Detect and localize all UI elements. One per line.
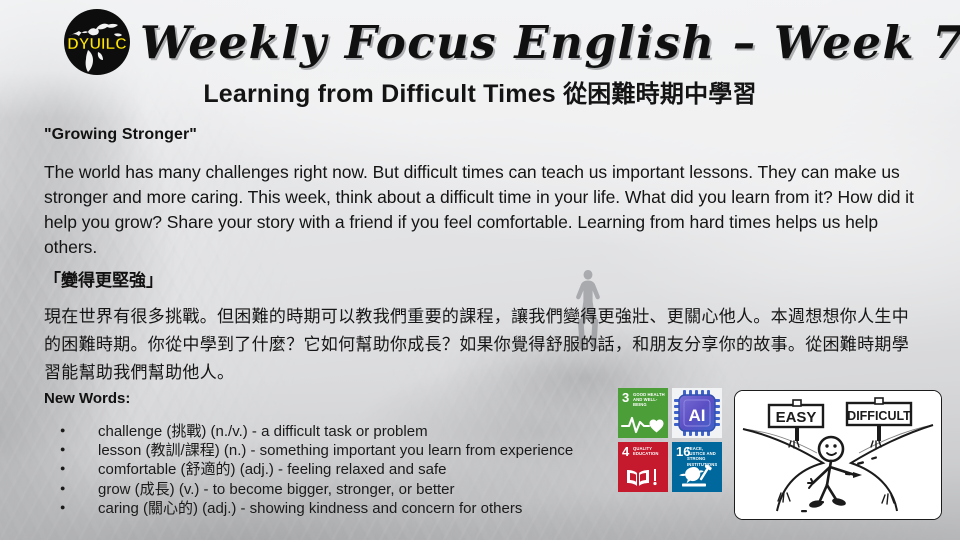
sdg-3-number: 3: [622, 391, 629, 404]
page-title: Weekly Focus English – Week 7: [140, 16, 940, 69]
list-item: grow (成長) (v.) - to become bigger, stron…: [60, 480, 640, 499]
page-subtitle-zh: 從困難時期中學習: [563, 81, 757, 108]
sdg-3-good-health-icon: 3 GOOD HEALTH AND WELL-BEING: [618, 388, 668, 438]
list-item: caring (關心的) (adj.) - showing kindness a…: [60, 499, 640, 518]
slide-header: DYUILC Weekly Focus English – Week 7 Lea…: [0, 0, 960, 118]
english-paragraph: The world has many challenges right now.…: [44, 160, 922, 260]
sdg-16-peace-justice-icon: 16 PEACE, JUSTICE AND STRONG INSTITUTION…: [672, 442, 722, 492]
sdg-4-number: 4: [622, 445, 629, 458]
fork-in-the-road-illustration: EASY DIFFICULT: [734, 390, 942, 520]
chinese-section-heading: 「變得更堅強」: [44, 266, 163, 291]
new-words-list: challenge (挑戰) (n./v.) - a difficult tas…: [60, 422, 640, 518]
list-item: challenge (挑戰) (n./v.) - a difficult tas…: [60, 422, 640, 441]
chinese-paragraph: 現在世界有很多挑戰。但困難的時期可以教我們重要的課程，讓我們變得更強壯、更關心他…: [44, 303, 926, 387]
page-subtitle-en: Learning from Difficult Times: [203, 80, 556, 108]
sign-label-easy: EASY: [776, 409, 817, 426]
heartbeat-line-icon: [618, 409, 668, 435]
page-subtitle: Learning from Difficult Times 從困難時期中學習: [0, 74, 960, 109]
sdg-3-caption: GOOD HEALTH AND WELL-BEING: [633, 392, 666, 408]
new-words-label: New Words:: [44, 390, 130, 407]
slide-canvas: DYUILC Weekly Focus English – Week 7 Lea…: [0, 0, 960, 540]
sign-label-difficult: DIFFICULT: [847, 409, 911, 423]
list-item: comfortable (舒適的) (adj.) - feeling relax…: [60, 460, 640, 479]
icon-grid: 3 GOOD HEALTH AND WELL-BEING: [618, 388, 726, 496]
easy-difficult-choice-drawing: EASY DIFFICULT: [735, 391, 941, 519]
open-book-icon: [618, 463, 668, 489]
dyuilc-globe-logo-icon: DYUILC: [58, 6, 136, 78]
ai-chip-glyph-icon: AI: [672, 388, 722, 438]
svg-text:DYUILC: DYUILC: [67, 36, 127, 53]
svg-text:AI: AI: [689, 406, 706, 425]
dove-and-gavel-icon: [672, 463, 722, 489]
sdg-4-caption: QUALITY EDUCATION: [633, 446, 666, 456]
sdg-4-quality-education-icon: 4 QUALITY EDUCATION: [618, 442, 668, 492]
english-section-heading: "Growing Stronger": [44, 126, 197, 144]
list-item: lesson (教訓/課程) (n.) - something importan…: [60, 441, 640, 460]
ai-chip-icon: AI: [672, 388, 722, 438]
